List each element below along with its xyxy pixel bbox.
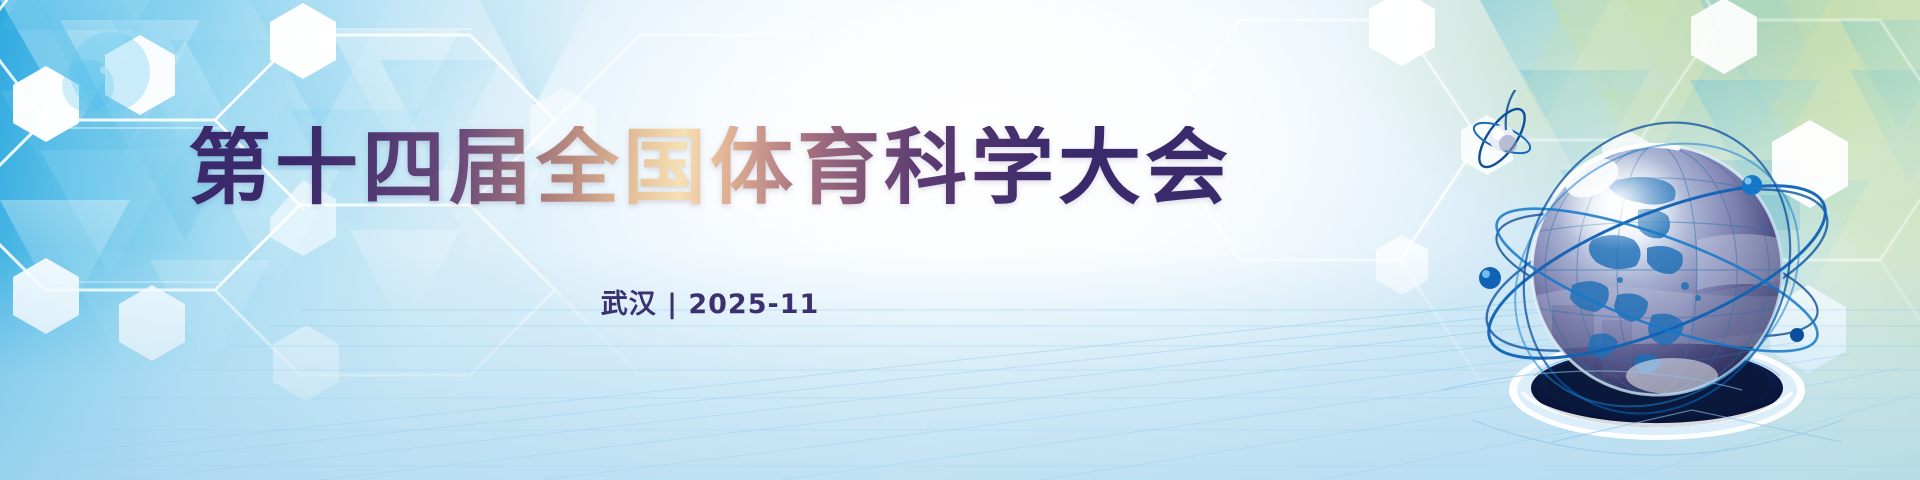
conference-banner: 第十四届全国体育科学大会 武汉 | 2025-11 [0,0,1920,480]
crystal-globe-icon [1442,90,1872,470]
